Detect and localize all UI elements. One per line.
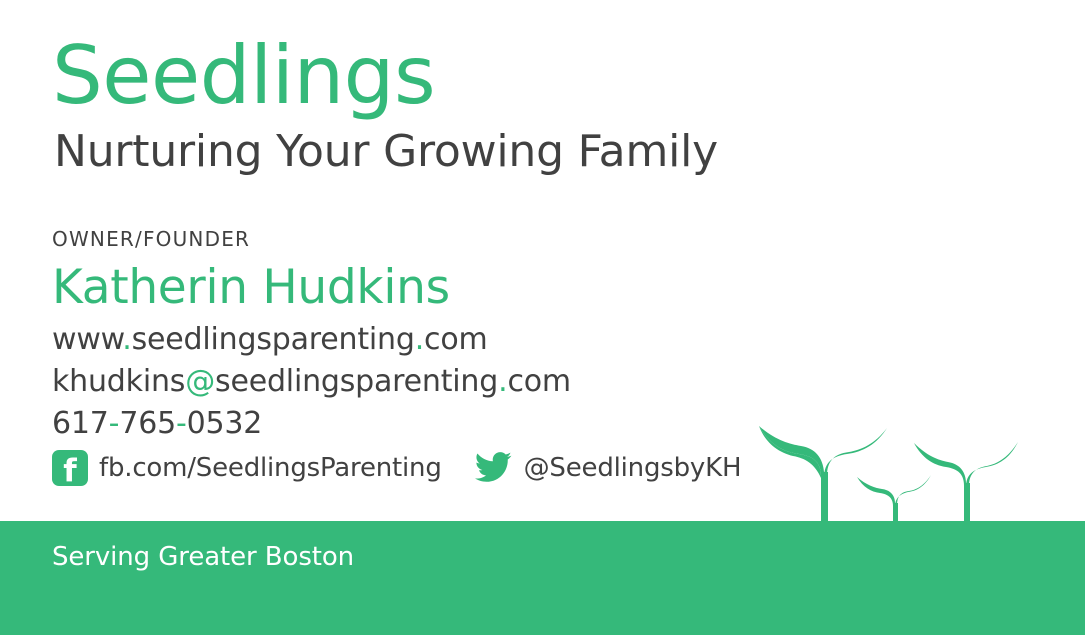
footer-tagline: Serving Greater Boston — [52, 542, 354, 572]
email-at-symbol: @ — [185, 364, 215, 399]
person-role: OWNER/FOUNDER — [52, 229, 450, 249]
seedling-sprouts-illustration — [745, 418, 1045, 528]
website-part-3: com — [424, 322, 487, 357]
social-row: f fb.com/SeedlingsParenting @Seedlingsby… — [52, 450, 741, 486]
business-card: Seedlings Nurturing Your Growing Family … — [0, 0, 1085, 635]
sprout-left — [759, 426, 887, 528]
website-line[interactable]: www.seedlingsparenting.com — [52, 319, 571, 361]
sprout-right — [914, 442, 1018, 528]
website-dot-1: . — [122, 322, 131, 357]
facebook-link[interactable]: f fb.com/SeedlingsParenting — [52, 450, 442, 486]
phone-part-2: 765 — [119, 406, 176, 441]
brand-block: Seedlings Nurturing Your Growing Family — [52, 36, 718, 174]
phone-dash-1: - — [109, 406, 120, 441]
email-user: khudkins — [52, 364, 185, 399]
brand-name: Seedlings — [52, 36, 718, 116]
phone-part-3: 0532 — [187, 406, 263, 441]
facebook-icon[interactable]: f — [52, 450, 88, 486]
email-domain: seedlingsparenting — [215, 364, 498, 399]
contact-block: www.seedlingsparenting.com khudkins@seed… — [52, 319, 571, 445]
facebook-label: fb.com/SeedlingsParenting — [99, 453, 442, 483]
facebook-icon-glyph: f — [63, 456, 77, 487]
phone-dash-2: - — [176, 406, 187, 441]
website-part-1: www — [52, 322, 122, 357]
person-name: Katherin Hudkins — [52, 264, 450, 311]
phone-part-1: 617 — [52, 406, 109, 441]
person-block: OWNER/FOUNDER Katherin Hudkins — [52, 229, 450, 311]
email-line[interactable]: khudkins@seedlingsparenting.com — [52, 361, 571, 403]
website-part-2: seedlingsparenting — [132, 322, 415, 357]
email-tld: com — [507, 364, 570, 399]
brand-tagline: Nurturing Your Growing Family — [54, 130, 718, 174]
twitter-link[interactable]: @SeedlingsbyKH — [473, 450, 742, 486]
twitter-label: @SeedlingsbyKH — [524, 453, 742, 483]
footer-bar: Serving Greater Boston — [0, 521, 1085, 635]
phone-line[interactable]: 617-765-0532 — [52, 403, 571, 445]
twitter-icon[interactable] — [473, 450, 513, 486]
website-dot-2: . — [415, 322, 424, 357]
